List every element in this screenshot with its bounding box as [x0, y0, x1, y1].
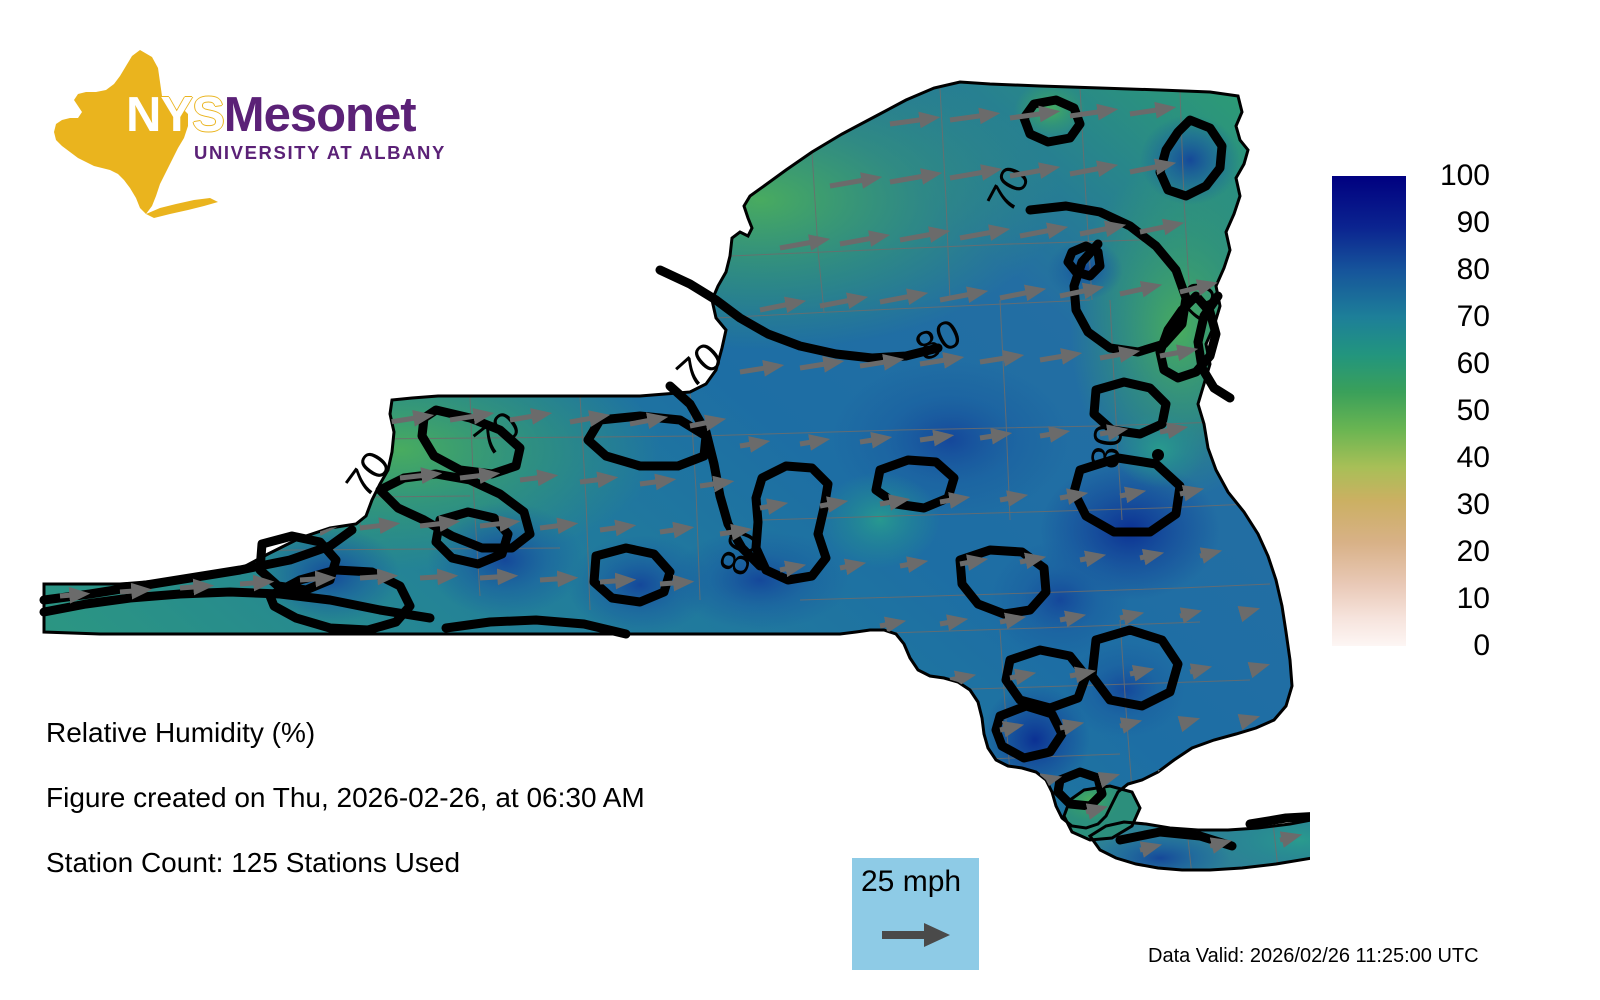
colorbar-tick: 60	[1400, 346, 1490, 382]
colorbar-tick: 0	[1400, 628, 1490, 664]
station-marker	[1152, 449, 1164, 461]
figure-caption: Relative Humidity (%) Figure created on …	[46, 716, 866, 911]
colorbar: 100 90 80 70 60 50 40 30 20 10 0	[1332, 176, 1572, 656]
colorbar-gradient	[1332, 176, 1406, 646]
colorbar-tick: 40	[1400, 440, 1490, 476]
data-valid-timestamp: Data Valid: 2026/02/26 11:25:00 UTC	[1148, 944, 1479, 968]
colorbar-tick: 90	[1400, 205, 1490, 241]
colorbar-tick: 70	[1400, 299, 1490, 335]
wind-legend-label: 25 mph	[861, 864, 961, 900]
colorbar-tick: 10	[1400, 581, 1490, 617]
contour-label-80-c: 80	[1083, 422, 1131, 471]
figure-created-time: Figure created on Thu, 2026-02-26, at 06…	[46, 781, 866, 814]
figure-title: Relative Humidity (%)	[46, 716, 866, 749]
wind-arrow-icon	[880, 920, 952, 950]
wind-speed-legend: 25 mph	[852, 858, 979, 970]
colorbar-tick: 80	[1400, 252, 1490, 288]
colorbar-tick: 30	[1400, 487, 1490, 523]
colorbar-tick: 20	[1400, 534, 1490, 570]
figure-station-count: Station Count: 125 Stations Used	[46, 846, 866, 879]
colorbar-tick: 100	[1400, 158, 1490, 194]
colorbar-tick: 50	[1400, 393, 1490, 429]
colorbar-tick-labels: 100 90 80 70 60 50 40 30 20 10 0	[1412, 158, 1532, 664]
